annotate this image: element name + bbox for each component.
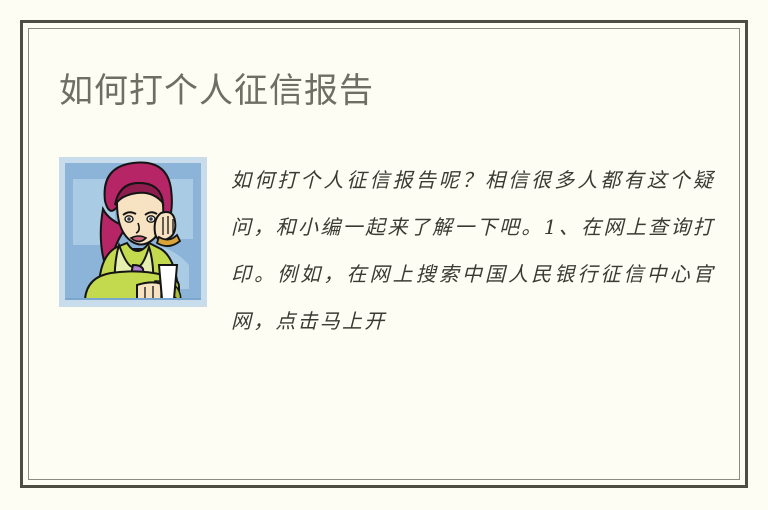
page-root: 如何打个人征信报告 [0,0,768,510]
article: 如何打个人征信报告 [29,29,739,479]
article-frame-inner: 如何打个人征信报告 [28,28,740,480]
article-frame-outer: 如何打个人征信报告 [20,20,748,488]
article-thumbnail [59,157,207,307]
article-body: 如何打个人征信报告呢？相信很多人都有这个疑问，和小编一起来了解一下吧。1、在网上… [59,157,715,345]
article-paragraph: 如何打个人征信报告呢？相信很多人都有这个疑问，和小编一起来了解一下吧。1、在网上… [231,157,715,345]
illustration-woman-with-cup-icon [59,157,207,307]
page-title: 如何打个人征信报告 [59,69,374,113]
